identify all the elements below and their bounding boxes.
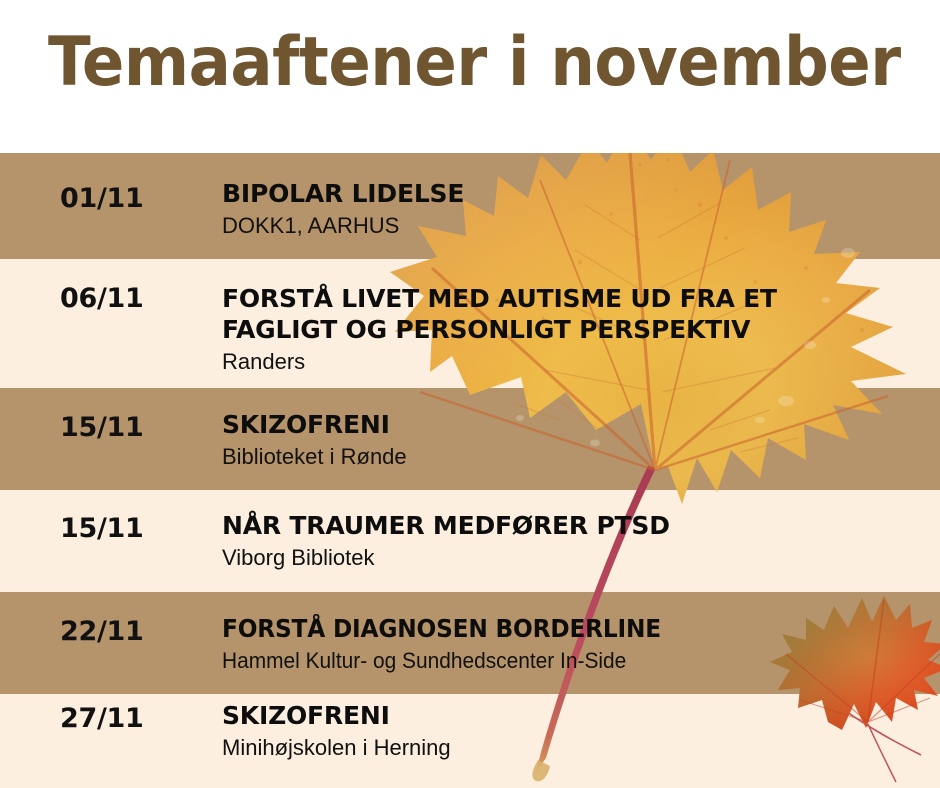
event-body: SKIZOFRENIBiblioteket i Rønde	[222, 409, 930, 472]
event-title: NÅR TRAUMER MEDFØRER PTSD	[222, 510, 930, 541]
page-title: Temaaftener i november	[48, 26, 901, 101]
event-venue: Minihøjskolen i Herning	[222, 734, 930, 763]
event-venue: Randers	[222, 348, 930, 377]
event-venue: Viborg Bibliotek	[222, 544, 930, 573]
event-date: 01/11	[60, 183, 144, 214]
title-banner: Temaaftener i november	[0, 0, 940, 153]
event-venue: Biblioteket i Rønde	[222, 443, 930, 472]
event-body: FORSTÅ DIAGNOSEN BORDERLINEHammel Kultur…	[222, 613, 930, 676]
event-date: 22/11	[60, 616, 144, 647]
event-body: BIPOLAR LIDELSEDOKK1, AARHUS	[222, 178, 930, 241]
event-date: 27/11	[60, 703, 144, 734]
event-date: 15/11	[60, 412, 144, 443]
event-date: 15/11	[60, 513, 144, 544]
event-body: SKIZOFRENIMinihøjskolen i Herning	[222, 700, 930, 763]
event-body: NÅR TRAUMER MEDFØRER PTSDViborg Bibliote…	[222, 510, 930, 573]
event-title: SKIZOFRENI	[222, 409, 930, 440]
event-body: FORSTÅ LIVET MED AUTISME UD FRA ET FAGLI…	[222, 283, 930, 377]
event-title: BIPOLAR LIDELSE	[222, 178, 930, 209]
event-title: SKIZOFRENI	[222, 700, 930, 731]
poster-canvas: Temaaftener i november 01/11BIPOLAR LIDE…	[0, 0, 940, 788]
event-date: 06/11	[60, 283, 144, 314]
event-title: FORSTÅ DIAGNOSEN BORDERLINE	[222, 613, 880, 644]
event-venue: Hammel Kultur- og Sundhedscenter In-Side	[222, 647, 895, 676]
event-venue: DOKK1, AARHUS	[222, 212, 930, 241]
event-title: FORSTÅ LIVET MED AUTISME UD FRA ET FAGLI…	[222, 283, 930, 345]
